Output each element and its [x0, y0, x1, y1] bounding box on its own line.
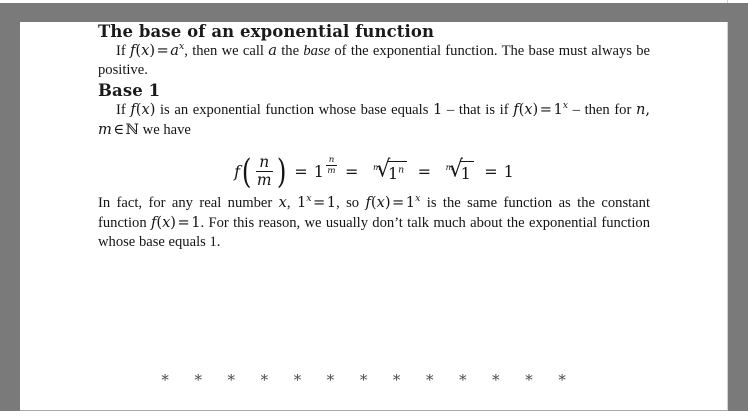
math-element-of-symbol: ∈	[112, 121, 126, 138]
math-a-2: a	[268, 42, 277, 59]
separator-asterisk: ∗	[491, 370, 524, 385]
separator-asterisk: ∗	[259, 370, 292, 385]
radical-index: m	[446, 162, 454, 172]
math-x: x	[279, 194, 287, 211]
text-fragment: If	[116, 102, 130, 118]
text-fragment: ,	[287, 195, 297, 211]
text-fragment: If	[116, 43, 130, 59]
equation-equals-1: =	[288, 162, 313, 181]
equation-row: f(nm) = 1nm = m√1n = m√1 = 1	[234, 151, 514, 193]
radicand-exponent: n	[398, 164, 404, 175]
math-x-2: x	[524, 101, 532, 118]
math-m: m	[98, 121, 112, 138]
equation-equals-3: =	[412, 162, 437, 181]
separator-asterisk: ∗	[392, 370, 425, 385]
equation-equals-2: =	[339, 162, 364, 181]
fraction-denominator: m	[256, 171, 273, 189]
math-equals: =	[155, 42, 170, 59]
math-one-power: 1	[406, 194, 415, 211]
math-one-final: 1	[191, 214, 200, 231]
math-one: 1	[433, 101, 442, 118]
separator-asterisk: ∗	[160, 370, 193, 385]
math-exponent-x: x	[306, 193, 311, 204]
text-fragment: the	[277, 43, 303, 59]
text-fragment: , so	[336, 195, 365, 211]
equation-result: 1	[504, 162, 514, 181]
math-equals-2: =	[391, 194, 406, 211]
viewer-right-margin	[728, 22, 748, 411]
section-heading-base-of-exponential-function: The base of an exponential function	[98, 22, 650, 41]
math-a: a	[170, 42, 179, 59]
paragraph-base-definition: If f(x)=ax, then we call a the base of t…	[98, 41, 650, 81]
equation-equals-4: =	[478, 162, 503, 181]
equation-paren-open: (	[242, 160, 252, 184]
separator-asterisk: ∗	[226, 370, 259, 385]
math-equals-3: =	[176, 214, 191, 231]
fraction-numerator: n	[328, 156, 336, 166]
math-one: 1	[297, 194, 306, 211]
separator-asterisk: ∗	[557, 370, 590, 385]
page-separator-gap	[0, 3, 748, 22]
radicand: 1n	[387, 161, 407, 183]
emphasis-base: base	[303, 43, 330, 59]
viewer-left-margin	[0, 22, 20, 411]
separator-asterisk: ∗	[292, 370, 325, 385]
separator-asterisk: ∗	[425, 370, 458, 385]
equation-f: f	[234, 162, 240, 181]
separator-asterisk: ∗	[458, 370, 491, 385]
radical-index: m	[373, 162, 381, 172]
fraction-denominator: m	[326, 165, 336, 176]
text-fragment: In fact, for any real number	[98, 195, 279, 211]
math-paren-close: )	[385, 194, 391, 211]
separator-asterisk: ∗	[358, 370, 391, 385]
paragraph-base-1-intro: If f(x) is an exponential function whose…	[98, 100, 650, 141]
math-n: n	[636, 101, 645, 118]
math-one-rhs: 1	[327, 194, 336, 211]
display-equation-root-of-one: f(nm) = 1nm = m√1n = m√1 = 1	[98, 151, 650, 193]
exponent-fraction-n-over-m: nm	[324, 156, 339, 176]
radical-m-th-root-of-one-to-n: m√1n	[368, 161, 411, 183]
math-x-2: x	[377, 194, 385, 211]
text-fragment: is an exponential function whose base eq…	[155, 102, 433, 118]
text-fragment: , then we call	[184, 43, 268, 59]
math-natural-numbers-symbol: ℕ	[126, 121, 139, 138]
equation-base-one: 1	[314, 162, 324, 181]
text-fragment: we have	[139, 122, 191, 138]
section-heading-base-1: Base 1	[98, 81, 650, 100]
math-equals: =	[538, 101, 553, 118]
radical-m-th-root-of-one: m√1	[441, 161, 478, 183]
radicand-base: 1	[388, 164, 398, 183]
radicand: 1	[460, 161, 474, 183]
math-x: x	[141, 101, 149, 118]
section-separator-asterisks: ∗∗∗∗∗∗∗∗∗∗∗∗∗	[160, 370, 590, 385]
separator-asterisk: ∗	[524, 370, 557, 385]
fraction-numerator: n	[258, 155, 270, 172]
paragraph-constant-function: In fact, for any real number x, 1x=1, so…	[98, 193, 650, 253]
math-equals: =	[312, 194, 327, 211]
separator-asterisk: ∗	[193, 370, 226, 385]
fraction-n-over-m: nm	[253, 155, 275, 189]
separator-asterisk: ∗	[325, 370, 358, 385]
text-fragment: – that is if	[442, 102, 513, 118]
page-content: The base of an exponential function If f…	[98, 22, 650, 253]
equation-paren-close: )	[277, 160, 287, 184]
pdf-page-viewer[interactable]: The base of an exponential function If f…	[0, 0, 748, 420]
text-fragment: – then for	[568, 102, 636, 118]
math-comma: ,	[645, 101, 650, 118]
math-one-power: 1	[553, 101, 562, 118]
